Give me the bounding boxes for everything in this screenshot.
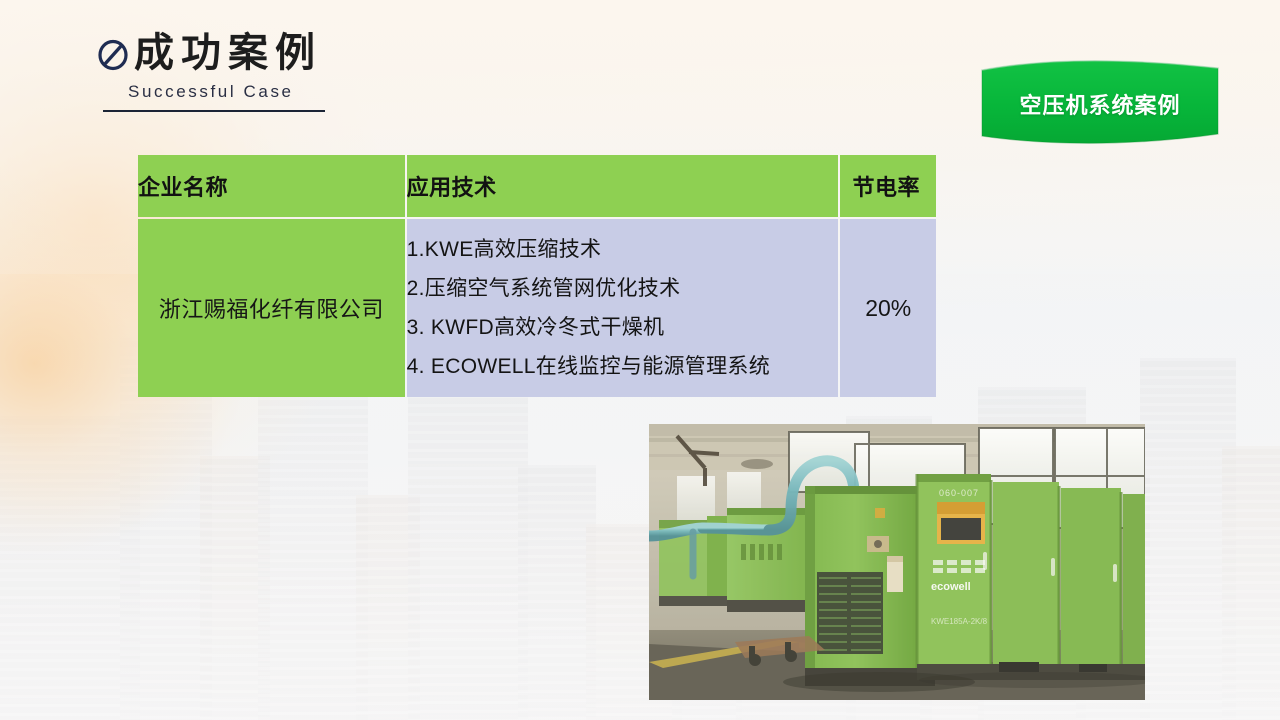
- circled-slash-icon: [96, 38, 130, 72]
- table-row: 浙江赐福化纤有限公司 1.KWE高效压缩技术 2.压缩空气系统管网优化技术 3.…: [138, 219, 936, 397]
- table-header-company: 企业名称: [138, 155, 405, 217]
- table-header-technology: 应用技术: [407, 155, 839, 217]
- slide-canvas: 成功案例 Successful Case 空压机系统案例: [0, 0, 1280, 720]
- section-banner: 空压机系统案例: [976, 56, 1224, 150]
- cell-technology-list: 1.KWE高效压缩技术 2.压缩空气系统管网优化技术 3. KWFD高效冷冬式干…: [407, 219, 839, 397]
- technology-list: 1.KWE高效压缩技术 2.压缩空气系统管网优化技术 3. KWFD高效冷冬式干…: [407, 230, 839, 386]
- air-compressor-room-photo: ecowell: [649, 424, 1145, 700]
- table-header-row: 企业名称 应用技术 节电率: [138, 155, 936, 217]
- technology-item: 1.KWE高效压缩技术: [407, 230, 839, 269]
- cell-saving-rate: 20%: [840, 219, 936, 397]
- cell-company-name: 浙江赐福化纤有限公司: [138, 219, 405, 397]
- case-table: 企业名称 应用技术 节电率 浙江赐福化纤有限公司 1.KWE高效压缩技术 2.压…: [136, 153, 938, 399]
- technology-item: 4. ECOWELL在线监控与能源管理系统: [407, 347, 839, 386]
- title-underline: [103, 110, 325, 112]
- page-title: 成功案例: [134, 32, 322, 74]
- technology-item: 2.压缩空气系统管网优化技术: [407, 269, 839, 308]
- page-subtitle: Successful Case: [128, 82, 325, 102]
- title-row: 成功案例: [96, 32, 325, 74]
- section-banner-label: 空压机系统案例: [976, 56, 1224, 150]
- title-block: 成功案例 Successful Case: [96, 32, 325, 112]
- table-header-saving-rate: 节电率: [840, 155, 936, 217]
- technology-item: 3. KWFD高效冷冬式干燥机: [407, 308, 839, 347]
